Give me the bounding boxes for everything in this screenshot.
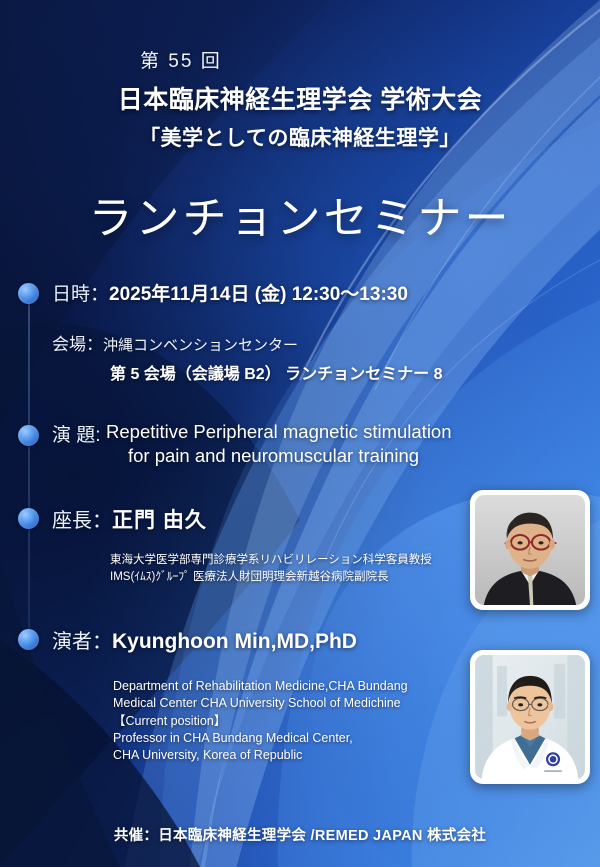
edition-label: 第 55 回 <box>140 46 222 73</box>
chair-portrait-image <box>475 495 585 605</box>
chair-photo <box>470 490 590 610</box>
speaker-name: Kyunghoon Min,MD,PhD <box>112 630 357 653</box>
chair-affiliation-line-1: 東海大学医学部専門診療学系リハビリレーション科学客員教授 <box>110 552 460 569</box>
venue-label: 会場： <box>52 335 103 354</box>
chair-affiliation-line-2: IMS(ｲﾑｽ)ｸﾞﾙｰﾌﾟ 医療法人財団明理会新越谷病院副院長 <box>110 569 460 586</box>
speaker-affiliation-line-5: CHA University, Korea of Republic <box>113 747 463 764</box>
date-value: 2025年11月14日 (金) 12:30〜13:30 <box>109 284 408 305</box>
congress-theme: 「美学としての臨床神経生理学」 <box>0 122 600 152</box>
bullet-icon <box>18 283 39 304</box>
date-label: 日時： <box>52 284 109 305</box>
page-title: ランチョンセミナー <box>0 182 600 246</box>
chair-affiliation: 東海大学医学部専門診療学系リハビリレーション科学客員教授 IMS(ｲﾑｽ)ｸﾞﾙ… <box>110 552 460 585</box>
speaker-affiliation-line-1: Department of Rehabilitation Medicine,CH… <box>113 678 463 695</box>
topic-text: Repetitive Peripheral magnetic stimulati… <box>106 420 586 469</box>
bullet-icon <box>18 629 39 650</box>
speaker-affiliation-line-2: Medical Center CHA University School of … <box>113 695 463 712</box>
speaker-affiliation: Department of Rehabilitation Medicine,CH… <box>113 678 463 764</box>
speaker-label: 演者： <box>52 631 112 653</box>
seminar-poster: 第 55 回 日本臨床神経生理学会 学術大会 「美学としての臨床神経生理学」 ラ… <box>0 0 600 867</box>
speaker-affiliation-line-3: 【Current position】 <box>113 713 463 730</box>
bullet-icon <box>18 425 39 446</box>
topic-line-1: Repetitive Peripheral magnetic stimulati… <box>106 421 452 442</box>
topic-line-2: for pain and neuromuscular training <box>106 444 586 468</box>
bullet-icon <box>18 508 39 529</box>
chair-name: 正門 由久 <box>112 509 207 532</box>
chair-label: 座長： <box>52 510 112 532</box>
footer-sponsors: 共催：日本臨床神経生理学会 /REMED JAPAN 株式会社 <box>0 824 600 845</box>
speaker-photo <box>470 650 590 784</box>
bullet-spine-line <box>28 300 30 645</box>
venue-name: 沖縄コンベンションセンター <box>103 337 298 354</box>
venue-room: 第 5 会場（会議場 B2） ランチョンセミナー 8 <box>110 360 442 384</box>
topic-label: 演 題: <box>52 420 101 447</box>
speaker-portrait-image <box>475 655 585 779</box>
speaker-affiliation-line-4: Professor in CHA Bundang Medical Center, <box>113 730 463 747</box>
congress-title: 日本臨床神経生理学会 学術大会 <box>0 80 600 116</box>
